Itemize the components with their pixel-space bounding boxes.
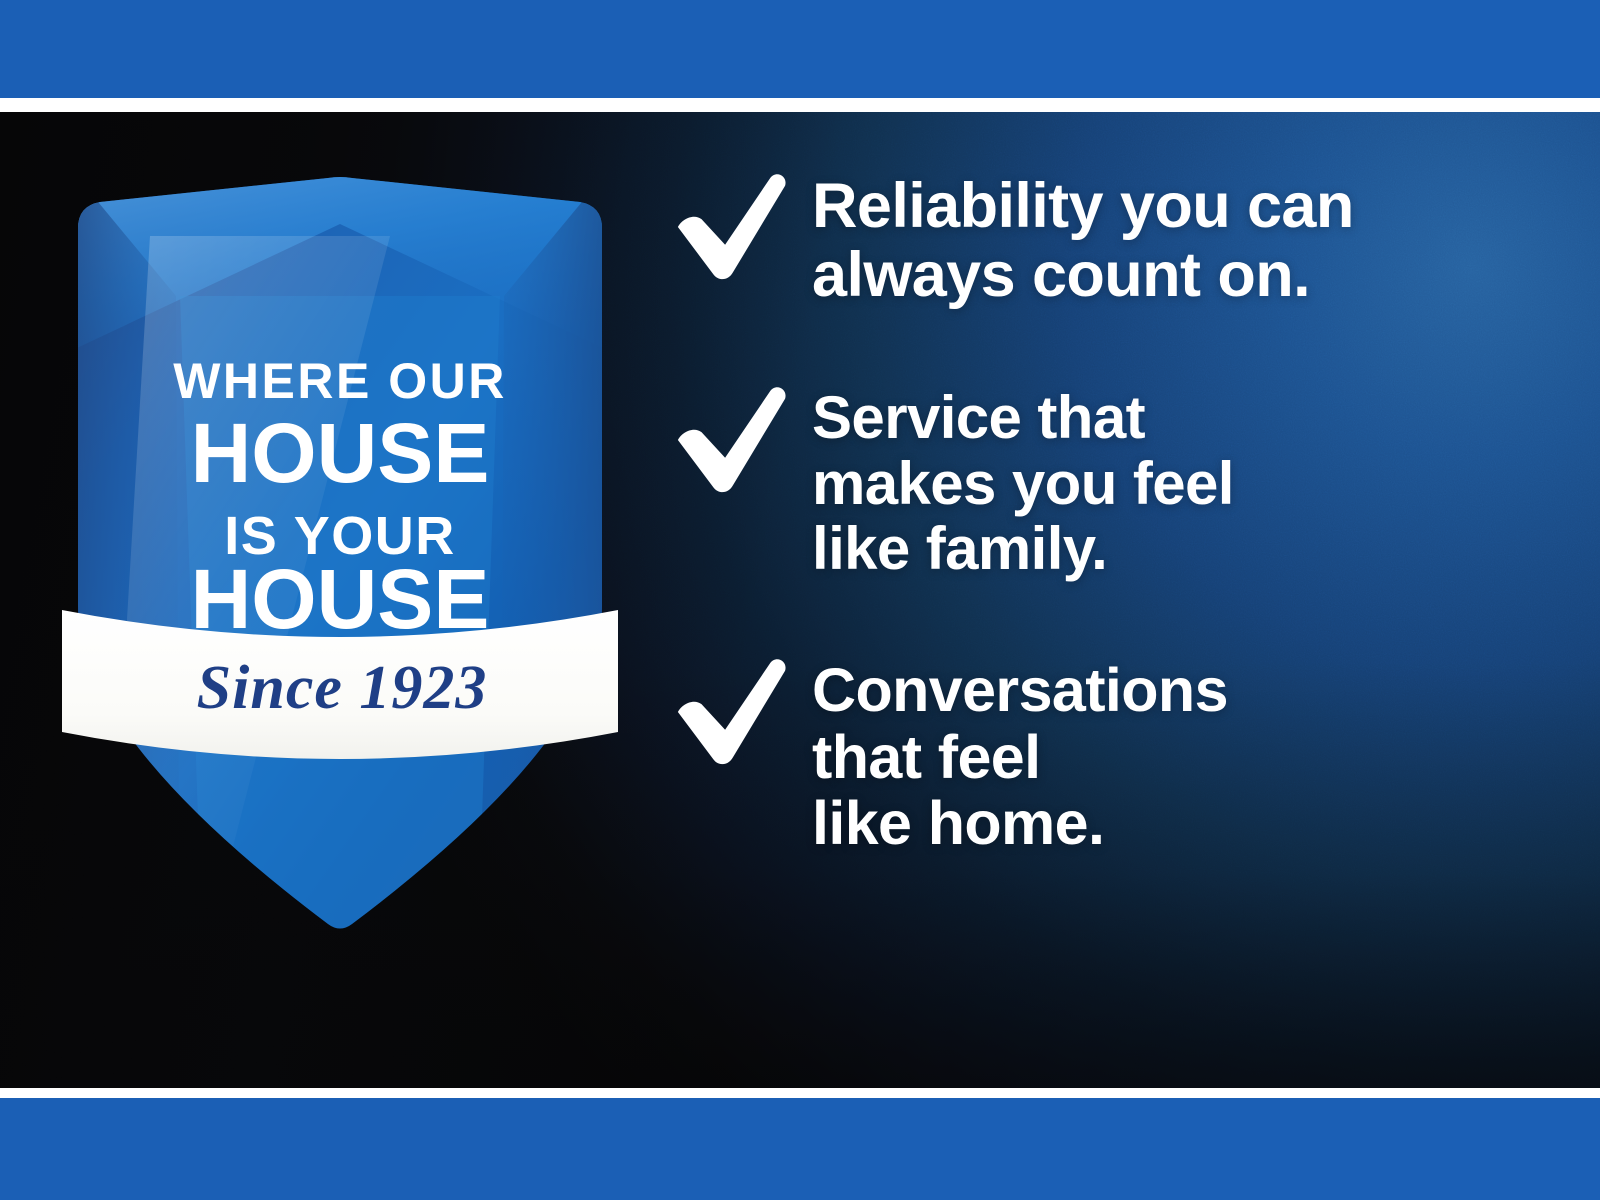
list-item-line: Reliability you can bbox=[812, 172, 1354, 241]
list-item-line: makes you feel bbox=[812, 451, 1234, 516]
list-item-line: that feel bbox=[812, 724, 1228, 790]
checkmark-icon bbox=[672, 170, 790, 288]
list-item-line: Service that bbox=[812, 385, 1234, 450]
list-item-line: always count on. bbox=[812, 241, 1354, 310]
badge-line-4: HOUSE bbox=[191, 552, 490, 646]
top-brand-bar bbox=[0, 0, 1600, 98]
badge-line-1: WHERE OUR bbox=[173, 353, 507, 409]
shield-badge: WHERE OUR HOUSE IS YOUR HOUSE Since 1923 bbox=[60, 176, 620, 816]
promotional-banner: WHERE OUR HOUSE IS YOUR HOUSE Since 1923… bbox=[0, 0, 1600, 1200]
list-item: Reliability you can always count on. bbox=[672, 168, 1512, 309]
list-item: Service that makes you feel like family. bbox=[672, 381, 1512, 581]
list-item-line: like family. bbox=[812, 516, 1234, 581]
list-item-line: like home. bbox=[812, 790, 1228, 856]
list-item-text: Service that makes you feel like family. bbox=[812, 381, 1234, 581]
since-banner-text: Since 1923 bbox=[197, 654, 488, 722]
list-item-line: Conversations bbox=[812, 657, 1228, 723]
checkmark-icon bbox=[672, 383, 790, 501]
badge-line-2: HOUSE bbox=[191, 406, 490, 500]
list-item-text: Reliability you can always count on. bbox=[812, 168, 1354, 309]
list-item: Conversations that feel like home. bbox=[672, 653, 1512, 856]
checkmark-icon bbox=[672, 655, 790, 773]
bottom-brand-bar bbox=[0, 1098, 1600, 1200]
list-item-text: Conversations that feel like home. bbox=[812, 653, 1228, 856]
benefits-list: Reliability you can always count on. Ser… bbox=[672, 168, 1512, 1048]
